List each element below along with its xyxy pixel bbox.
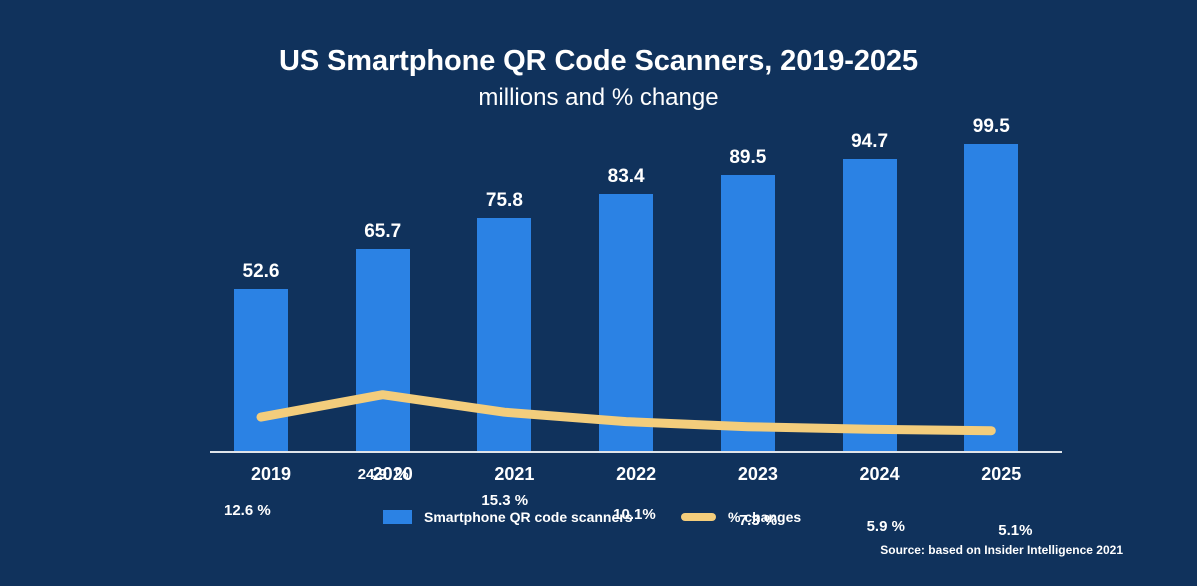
x-axis-label: 2025 bbox=[940, 462, 1062, 486]
title-block: US Smartphone QR Code Scanners, 2019-202… bbox=[0, 44, 1197, 112]
bar-group: 94.7 bbox=[819, 118, 941, 452]
bar-group: 75.8 bbox=[453, 118, 575, 452]
bar-group: 83.4 bbox=[575, 118, 697, 452]
x-axis-label: 2023 bbox=[697, 462, 819, 486]
legend-bar-swatch-icon bbox=[383, 510, 412, 524]
x-axis-label: 2024 bbox=[819, 462, 941, 486]
bar-value-label: 83.4 bbox=[575, 166, 677, 188]
legend-item-bars[interactable]: Smartphone QR code scanners bbox=[383, 504, 633, 530]
bar[interactable] bbox=[599, 194, 653, 452]
bar-group: 89.5 bbox=[697, 118, 819, 452]
legend-line-swatch-icon bbox=[681, 513, 716, 521]
chart-container: US Smartphone QR Code Scanners, 2019-202… bbox=[0, 0, 1197, 586]
x-axis-line bbox=[210, 451, 1062, 453]
bar[interactable] bbox=[356, 249, 410, 452]
bar-group: 99.5 bbox=[940, 118, 1062, 452]
legend-item-line[interactable]: % changes bbox=[681, 504, 801, 530]
source-attribution: Source: based on Insider Intelligence 20… bbox=[880, 542, 1123, 558]
bar[interactable] bbox=[721, 175, 775, 452]
x-axis-tick-labels: 2019202020212022202320242025 bbox=[210, 462, 1062, 490]
bar-value-label: 99.5 bbox=[940, 116, 1042, 138]
bar-value-label: 94.7 bbox=[819, 131, 921, 153]
bar[interactable] bbox=[234, 289, 288, 452]
bar-value-label: 65.7 bbox=[332, 221, 434, 243]
chart-subtitle: millions and % change bbox=[0, 84, 1197, 112]
bar[interactable] bbox=[477, 218, 531, 452]
bar-group: 65.7 bbox=[332, 118, 454, 452]
legend-item-label: % changes bbox=[728, 508, 801, 526]
bar-value-label: 75.8 bbox=[453, 190, 555, 212]
page-title: US Smartphone QR Code Scanners, 2019-202… bbox=[0, 44, 1197, 78]
x-axis-label: 2020 bbox=[332, 462, 454, 486]
x-axis-label: 2022 bbox=[575, 462, 697, 486]
legend-item-label: Smartphone QR code scanners bbox=[424, 508, 633, 526]
x-axis-label: 2021 bbox=[453, 462, 575, 486]
bar-value-label: 52.6 bbox=[210, 261, 312, 283]
plot-area: 52.612.6 %65.724.9 %75.815.3 %83.410.1%8… bbox=[210, 118, 1062, 452]
x-axis-label: 2019 bbox=[210, 462, 332, 486]
chart-legend: Smartphone QR code scanners % changes bbox=[0, 504, 1197, 530]
bar[interactable] bbox=[843, 159, 897, 452]
bar[interactable] bbox=[964, 144, 1018, 452]
bar-value-label: 89.5 bbox=[697, 147, 799, 169]
bar-group: 52.6 bbox=[210, 118, 332, 452]
